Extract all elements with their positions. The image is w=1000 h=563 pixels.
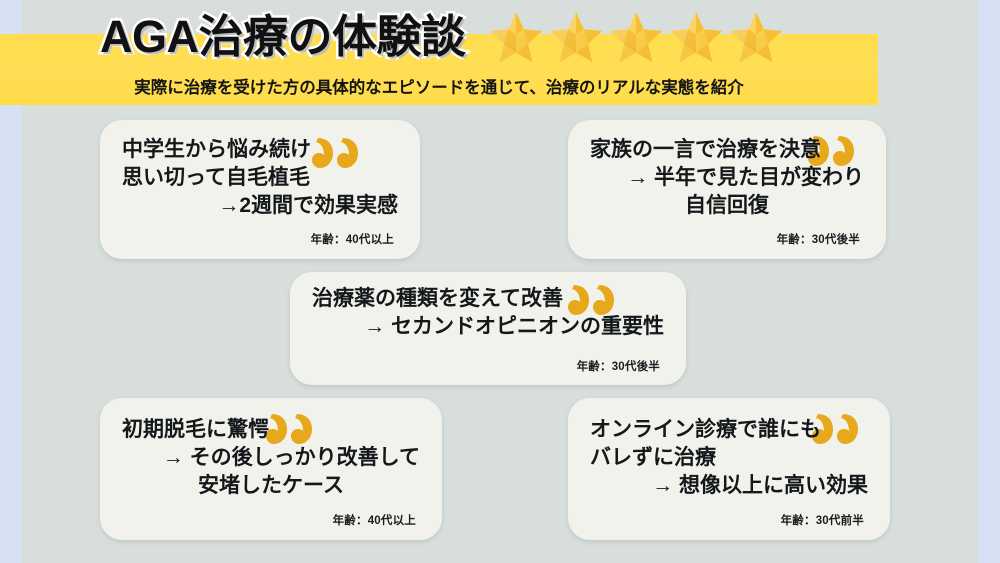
card-age-label: 年齢：30代後半 [777, 231, 860, 247]
title-row: AGA治療の体験談 [100, 8, 784, 64]
star-icon [608, 10, 664, 64]
card-line: 治療薬の種類を変えて改善 [312, 285, 664, 313]
card-line: 初期脱毛に驚愕 [122, 416, 420, 444]
card-line: → 想像以上に高い効果 [590, 472, 868, 500]
slide-canvas: AGA治療の体験談 [0, 0, 1000, 563]
testimonial-card: オンライン診療で誰にも バレずに治療 → 想像以上に高い効果 年齢：30代前半 [568, 398, 890, 540]
card-line: → その後しっかり改善して [122, 444, 420, 472]
star-icon [488, 10, 544, 64]
card-age-label: 年齢：40代以上 [333, 512, 416, 528]
star-icon [548, 10, 604, 64]
testimonial-card: 治療薬の種類を変えて改善 → セカンドオピニオンの重要性 年齢：30代後半 [290, 272, 686, 385]
star-icon [668, 10, 724, 64]
testimonial-card: 家族の一言で治療を決意 → 半年で見た目が変わり 自信回復 年齢：30代後半 [568, 120, 886, 259]
card-line: → セカンドオピニオンの重要性 [312, 313, 664, 341]
page-edge-right-strip [978, 0, 1000, 563]
card-line: バレずに治療 [590, 444, 868, 472]
testimonial-card: 初期脱毛に驚愕 → その後しっかり改善して 安堵したケース 年齢：40代以上 [100, 398, 442, 540]
card-text: 治療薬の種類を変えて改善 → セカンドオピニオンの重要性 [290, 285, 686, 341]
card-line: 家族の一言で治療を決意 [590, 136, 864, 164]
card-text: 中学生から悩み続け 思い切って自毛植毛 →2週間で効果実感 [100, 136, 420, 220]
card-line: 中学生から悩み続け [122, 136, 398, 164]
star-icon [728, 10, 784, 64]
page-title: AGA治療の体験談 [100, 14, 466, 59]
card-age-label: 年齢：40代以上 [311, 231, 394, 247]
testimonial-card: 中学生から悩み続け 思い切って自毛植毛 →2週間で効果実感 年齢：40代以上 [100, 120, 420, 259]
card-text: 初期脱毛に驚愕 → その後しっかり改善して 安堵したケース [100, 416, 442, 500]
card-line: →2週間で効果実感 [122, 192, 398, 220]
card-line: 自信回復 [590, 192, 864, 220]
card-age-label: 年齢：30代後半 [577, 358, 660, 374]
card-text: オンライン診療で誰にも バレずに治療 → 想像以上に高い効果 [568, 416, 890, 500]
star-rating [488, 10, 784, 64]
card-age-label: 年齢：30代前半 [781, 512, 864, 528]
card-text: 家族の一言で治療を決意 → 半年で見た目が変わり 自信回復 [568, 136, 886, 220]
header: AGA治療の体験談 [0, 0, 900, 110]
card-line: → 半年で見た目が変わり [590, 164, 864, 192]
card-line: 思い切って自毛植毛 [122, 164, 398, 192]
card-line: 安堵したケース [122, 472, 420, 500]
page-subtitle: 実際に治療を受けた方の具体的なエピソードを通じて、治療のリアルな実態を紹介 [0, 74, 878, 98]
card-line: オンライン診療で誰にも [590, 416, 868, 444]
